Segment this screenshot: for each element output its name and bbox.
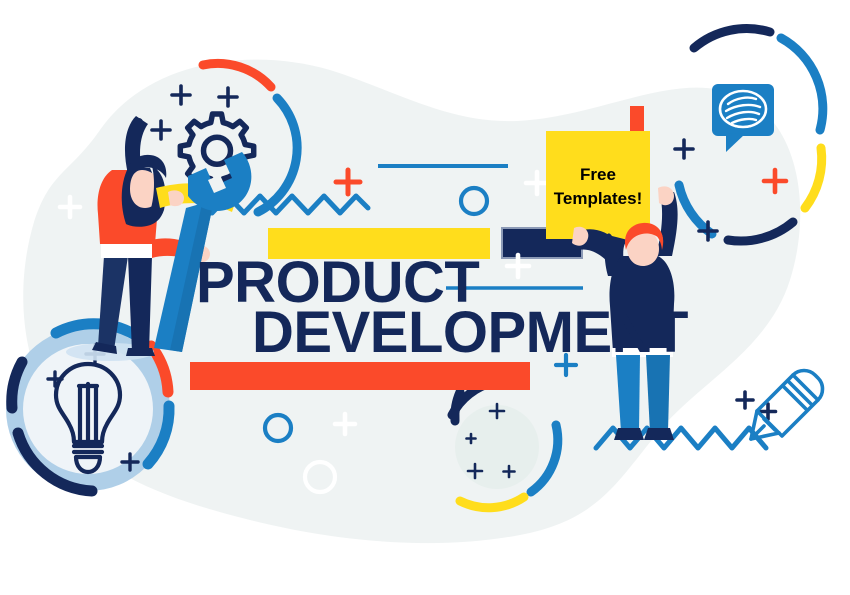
product-development-illustration: PRODUCT DEVELOPMENT Free Templates!: [0, 0, 850, 595]
orange-accent-bar: [190, 362, 530, 390]
illustration-canvas: PRODUCT DEVELOPMENT Free Templates!: [0, 0, 850, 595]
sticky-note-line2: Templates!: [554, 189, 643, 208]
headline-line2: DEVELOPMENT: [252, 300, 688, 365]
pencil-icon: [751, 371, 823, 440]
sticky-note-line1: Free: [580, 165, 616, 184]
